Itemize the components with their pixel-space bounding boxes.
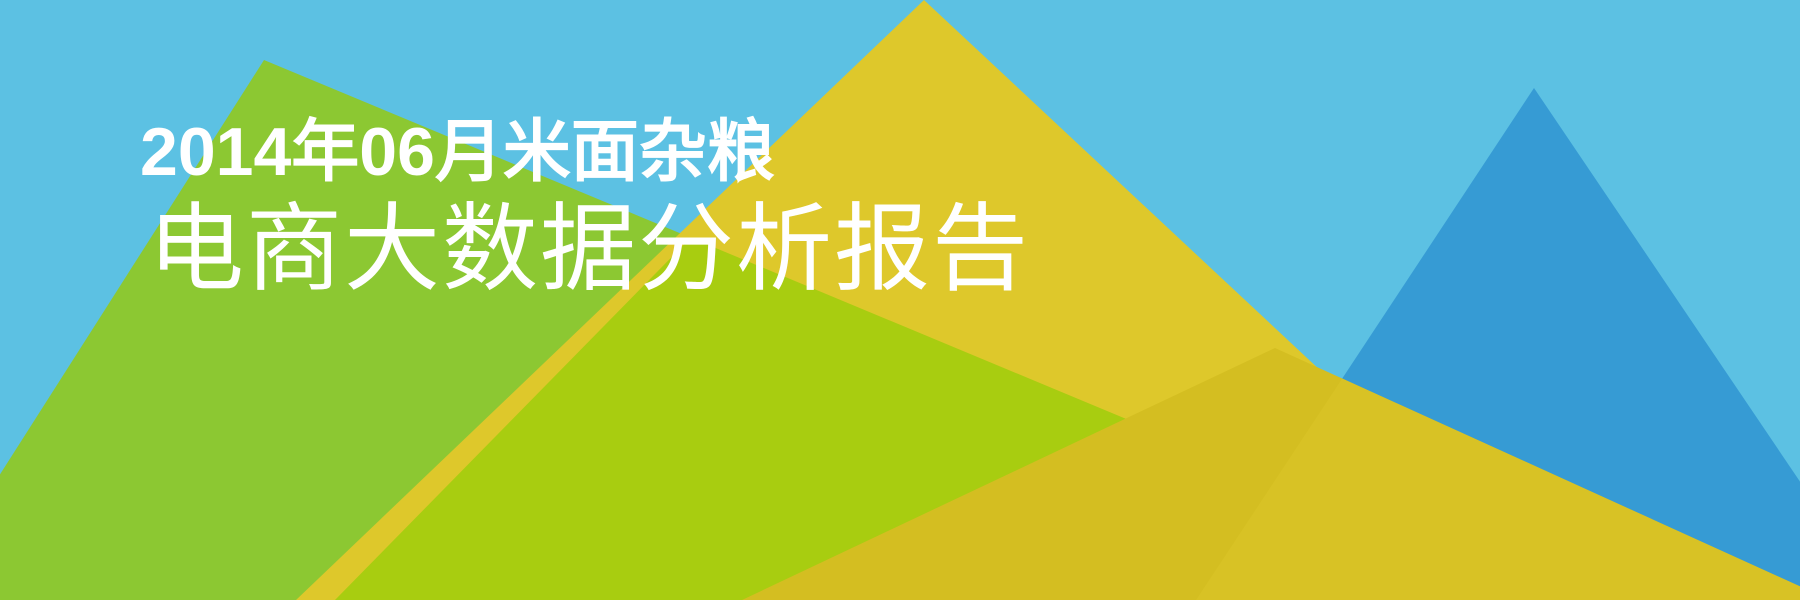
background-geometry	[0, 0, 1800, 600]
report-banner: 2014年06月米面杂粮 电商大数据分析报告	[0, 0, 1800, 600]
